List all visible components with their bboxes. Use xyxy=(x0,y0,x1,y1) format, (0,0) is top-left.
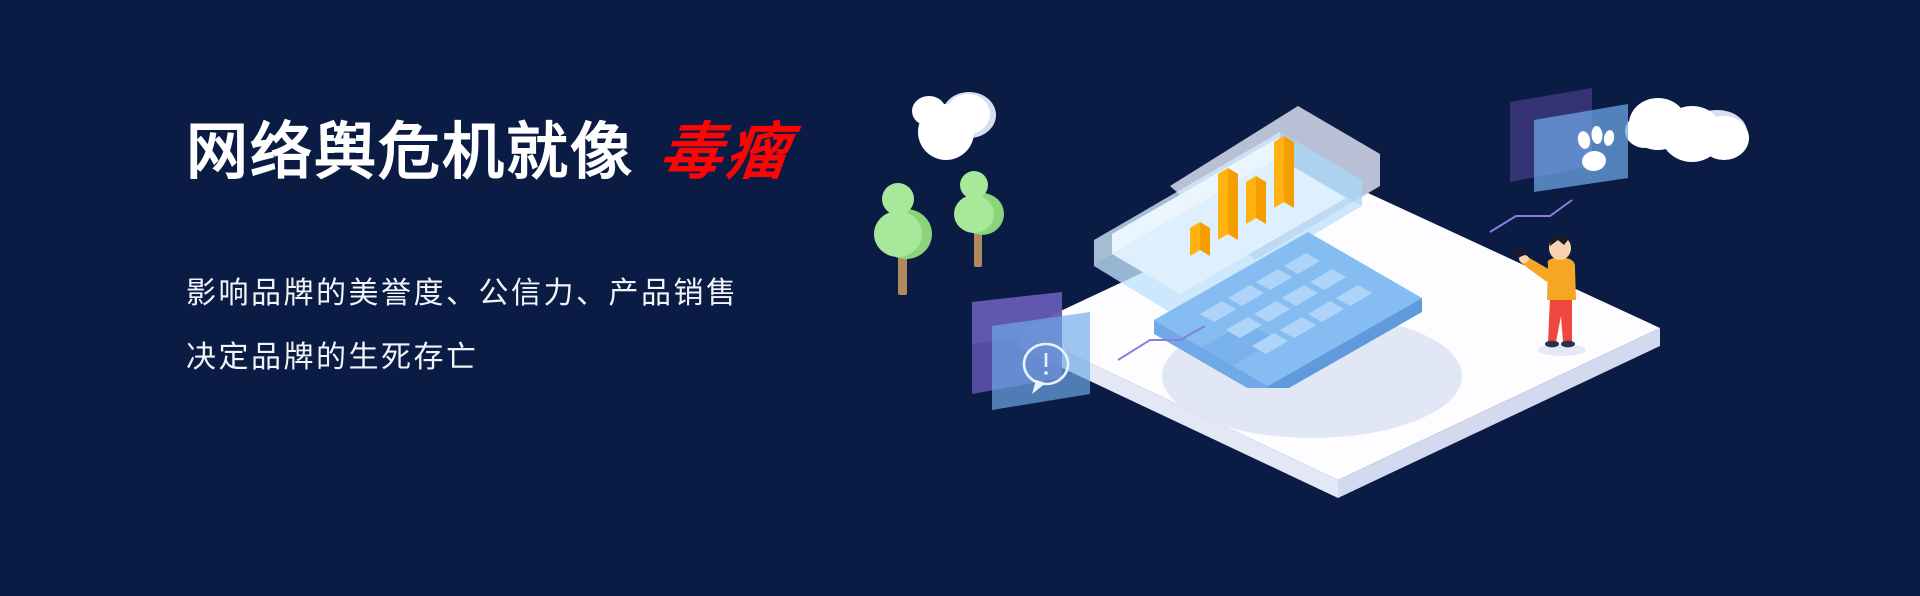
headline: 网络舆危机就像毒瘤 xyxy=(186,120,946,187)
headline-emphasis: 毒瘤 xyxy=(656,120,795,187)
hero-illustration xyxy=(850,40,1920,470)
person-with-phone xyxy=(1510,228,1600,358)
hero-banner: 网络舆危机就像毒瘤 影响品牌的美誉度、公信力、产品销售 决定品牌的生死存亡 xyxy=(0,0,1920,596)
subtitle-line-1: 影响品牌的美誉度、公信力、产品销售 xyxy=(186,268,739,312)
connector-wires xyxy=(850,40,1920,470)
banner-text-block: 网络舆危机就像毒瘤 影响品牌的美誉度、公信力、产品销售 决定品牌的生死存亡 xyxy=(186,120,946,187)
headline-lead: 网络舆危机就像 xyxy=(186,118,634,187)
subtitle-line-2: 决定品牌的生死存亡 xyxy=(186,332,479,376)
